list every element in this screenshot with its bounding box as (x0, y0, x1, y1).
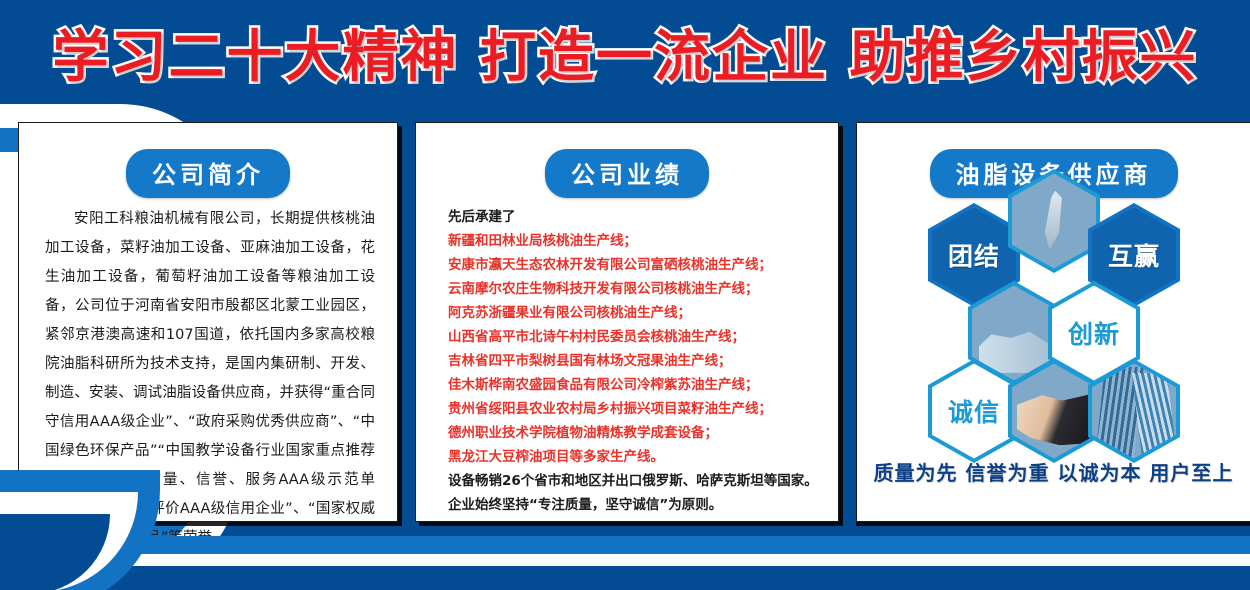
hexagon-label: 诚信 (948, 393, 1000, 429)
record-project: 山西省高平市北诗午村村民委员会核桃油生产线； (448, 325, 820, 349)
hexagon-label: 团结 (948, 237, 1000, 273)
supplier-slogan: 质量为先 信誉为重 以诚为本 用户至上 (857, 457, 1250, 486)
record-project: 阿克苏浙疆果业有限公司核桃油生产线； (448, 301, 820, 325)
content-band: 公司简介 安阳工科粮油机械有限公司，长期提供核桃油加工设备，菜籽油加工设备、亚麻… (0, 122, 1250, 534)
record-project: 安康市瀛天生态农林开发有限公司富硒核桃油生产线； (448, 253, 820, 277)
bottom-navy-band (0, 566, 1250, 590)
badge-company-profile: 公司简介 (126, 149, 290, 198)
hexagon-label: 创新 (1068, 315, 1120, 351)
record-project: 黑龙江大豆榨油项目等多家生产线。 (448, 445, 820, 469)
page-title: 学习二十大精神 打造一流企业 助推乡村振兴 (53, 12, 1198, 93)
record-footer-line: 设备畅销26个省市和地区并出口俄罗斯、哈萨克斯坦等国家。 (448, 469, 820, 493)
record-footer-line: 企业始终坚持“专注质量，坚守诚信”为原则。 (448, 493, 820, 517)
record-project: 贵州省绥阳县农业农村局乡村振兴项目菜籽油生产线； (448, 397, 820, 421)
record-project: 新疆和田林业局核桃油生产线； (448, 229, 820, 253)
hexagon-cluster: 团结 互赢 创新 (857, 197, 1250, 449)
panel-supplier: 油脂设备供应商 团结 互赢 (856, 122, 1250, 522)
record-project: 佳木斯桦南农盛园食品有限公司冷榨紫苏油生产线； (448, 373, 820, 397)
record-project: 云南摩尔农庄生物科技开发有限公司核桃油生产线； (448, 277, 820, 301)
record-project: 德州职业技术学院植物油精炼教学成套设备； (448, 421, 820, 445)
record-project: 吉林省四平市梨树县国有林场文冠果油生产线； (448, 349, 820, 373)
poster-root: 学习二十大精神 打造一流企业 助推乡村振兴 公司简介 安阳工科粮油机械有限公司，… (0, 0, 1250, 590)
hexagon-inner (1092, 364, 1176, 459)
badge-company-record: 公司业绩 (545, 149, 709, 198)
panel-company-record: 公司业绩 先后承建了 新疆和田林业局核桃油生产线； 安康市瀛天生态农林开发有限公… (415, 122, 839, 522)
bottom-white-band (0, 554, 1250, 566)
hexagon-inner (1012, 364, 1096, 459)
hexagon-inner (1012, 174, 1096, 269)
bottom-blue-band (0, 536, 1250, 554)
hexagon-label: 互赢 (1108, 237, 1160, 273)
header-banner: 学习二十大精神 打造一流企业 助推乡村振兴 (0, 0, 1250, 104)
panel-company-profile: 公司简介 安阳工科粮油机械有限公司，长期提供核桃油加工设备，菜籽油加工设备、亚麻… (18, 122, 398, 522)
company-record-list: 先后承建了 新疆和田林业局核桃油生产线； 安康市瀛天生态农林开发有限公司富硒核桃… (448, 205, 820, 517)
record-lead: 先后承建了 (448, 205, 820, 229)
